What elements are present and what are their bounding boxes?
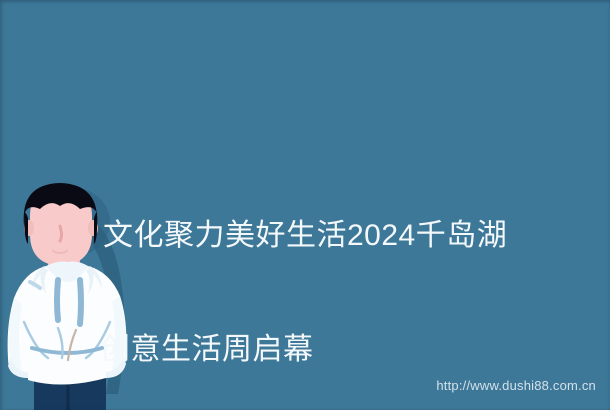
poster-headline: 文化聚力美好生活2024千岛湖 创意生活周启幕: [100, 141, 570, 410]
source-watermark-url: http://www.dushi88.com.cn: [436, 378, 596, 393]
headline-line-1: 文化聚力美好生活2024千岛湖: [100, 217, 570, 255]
drawstring-right: [80, 280, 81, 324]
poster-canvas: 文化聚力美好生活2024千岛湖 创意生活周启幕 http://www.dushi…: [0, 0, 610, 410]
drawstring-left: [57, 280, 58, 320]
headline-line-2: 创意生活周启幕: [100, 331, 570, 369]
